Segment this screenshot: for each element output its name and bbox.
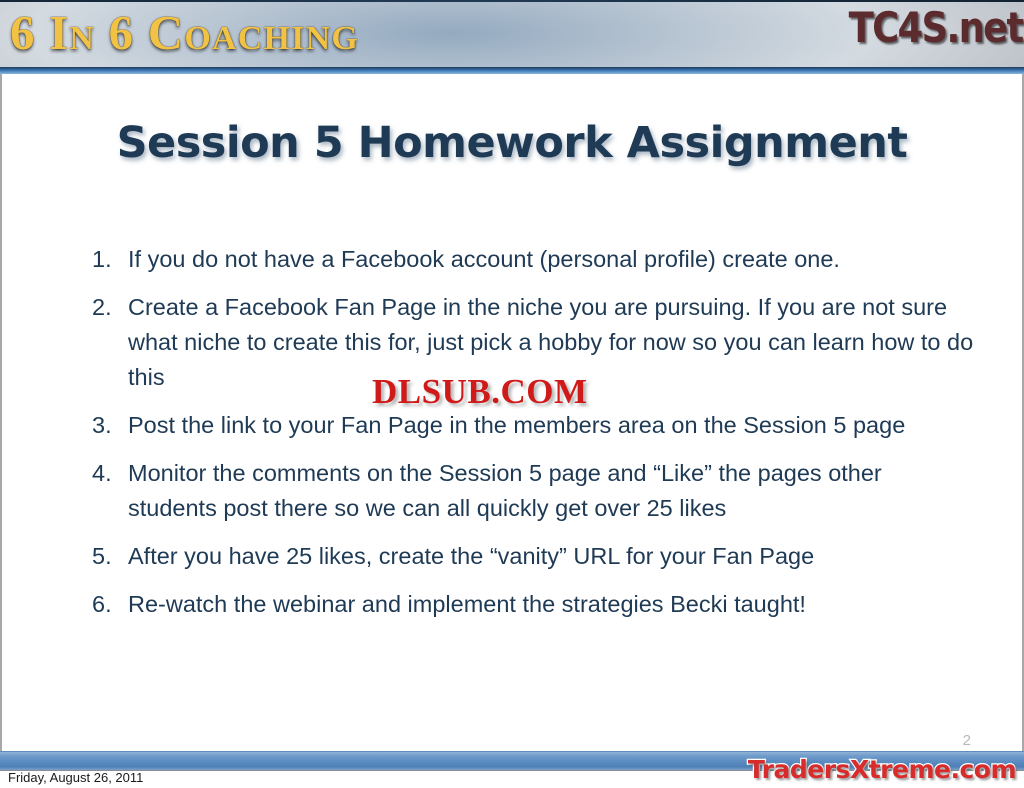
footer-date: Friday, August 26, 2011	[8, 770, 143, 785]
list-item-number: 2.	[92, 290, 128, 325]
list-item-text: After you have 25 likes, create the “van…	[128, 539, 977, 574]
list-item-number: 5.	[92, 539, 128, 574]
list-item-text: Monitor the comments on the Session 5 pa…	[128, 456, 977, 526]
list-item-number: 6.	[92, 587, 128, 622]
list-item: 1. If you do not have a Facebook account…	[92, 242, 977, 277]
slide-page-number: 2	[963, 732, 971, 749]
dlsub-watermark: DLSUB.COM	[372, 372, 588, 412]
list-item: 4. Monitor the comments on the Session 5…	[92, 456, 977, 526]
list-item-text: Re-watch the webinar and implement the s…	[128, 587, 977, 622]
list-item-text: If you do not have a Facebook account (p…	[128, 242, 977, 277]
page-title: Session 5 Homework Assignment	[0, 118, 1024, 168]
list-item-text: Post the link to your Fan Page in the me…	[128, 408, 977, 443]
header-accent-rule	[0, 67, 1024, 74]
tc4s-site-logo: TC4S.net	[848, 2, 1022, 54]
brand-title: 6 In 6 Coaching	[10, 3, 359, 63]
list-item: 5. After you have 25 likes, create the “…	[92, 539, 977, 574]
list-item-number: 3.	[92, 408, 128, 443]
tradersxtreme-logo: TradersXtreme.com	[748, 755, 1016, 784]
list-item-number: 4.	[92, 456, 128, 491]
list-item: 3. Post the link to your Fan Page in the…	[92, 408, 977, 443]
list-item: 6. Re-watch the webinar and implement th…	[92, 587, 977, 622]
header-banner: 6 In 6 Coaching TC4S.net	[0, 0, 1024, 67]
list-item-number: 1.	[92, 242, 128, 277]
presentation-slide: 6 In 6 Coaching TC4S.net Session 5 Homew…	[0, 0, 1024, 788]
homework-list: 1. If you do not have a Facebook account…	[92, 242, 977, 635]
